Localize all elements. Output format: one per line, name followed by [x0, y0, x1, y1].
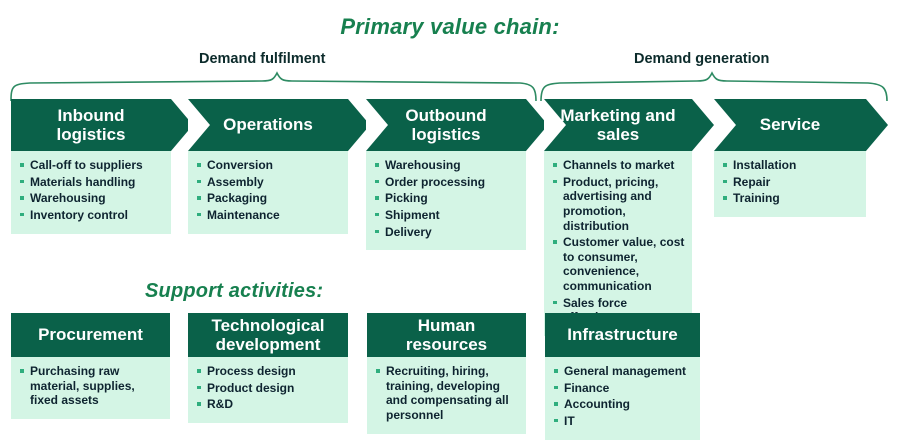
list-item: Accounting — [551, 397, 696, 412]
support-activity-header-procurement: Procurement — [11, 313, 170, 357]
support-activity-procurement[interactable]: Procurement Purchasing raw material, sup… — [11, 313, 170, 419]
chain-stage-outbound-logistics[interactable]: Outbound logistics Warehousing Order pro… — [366, 99, 526, 250]
list-item: Inventory control — [17, 208, 167, 223]
support-activity-body-infrastructure: General management Finance Accounting IT — [545, 357, 700, 440]
chain-stage-items: Call-off to suppliers Materials handling… — [17, 158, 167, 223]
chain-stage-header-service: Service — [714, 99, 866, 151]
support-activity-human-resources[interactable]: Human resources Recruiting, hiring, trai… — [367, 313, 526, 434]
chain-stage-body-outbound-logistics: Warehousing Order processing Picking Shi… — [366, 151, 526, 250]
brace-demand-generation — [541, 73, 887, 101]
support-activity-header-infrastructure: Infrastructure — [545, 313, 700, 357]
chevron-arrow-icon — [692, 99, 714, 151]
list-item: General management — [551, 364, 696, 379]
list-item: Warehousing — [372, 158, 522, 173]
chain-stage-title-line1: Operations — [223, 115, 313, 134]
list-item: Order processing — [372, 175, 522, 190]
support-activity-infrastructure[interactable]: Infrastructure General management Financ… — [545, 313, 700, 440]
list-item: Conversion — [194, 158, 344, 173]
support-activity-title-line1: Technological — [211, 316, 324, 335]
chain-stage-items: Warehousing Order processing Picking Shi… — [372, 158, 522, 239]
primary-chain-row: Inbound logistics Call-off to suppliers … — [0, 99, 900, 294]
list-item: Assembly — [194, 175, 344, 190]
list-item: Purchasing raw material, supplies, fixed… — [17, 364, 166, 408]
demand-fulfilment-label: Demand fulfilment — [199, 51, 325, 67]
page-title: Primary value chain: — [0, 14, 900, 40]
list-item: Materials handling — [17, 175, 167, 190]
support-activity-title-line1: Human — [418, 316, 476, 335]
demand-generation-label: Demand generation — [634, 51, 769, 67]
list-item: Channels to market — [550, 158, 688, 173]
chain-stage-title-line2: logistics — [412, 125, 481, 144]
list-item: Customer value, cost to consumer, conven… — [550, 235, 688, 294]
chain-stage-items: Channels to market Product, pricing, adv… — [550, 158, 688, 325]
support-activity-technological-development[interactable]: Technological development Process design… — [188, 313, 348, 423]
chain-stage-body-marketing-and-sales: Channels to market Product, pricing, adv… — [544, 151, 692, 336]
support-activity-body-procurement: Purchasing raw material, supplies, fixed… — [11, 357, 170, 419]
chain-stage-title-line2: sales — [597, 125, 640, 144]
value-chain-diagram: Primary value chain: Demand fulfilment D… — [0, 0, 900, 444]
brace-demand-fulfilment — [11, 73, 536, 101]
support-activity-items: Purchasing raw material, supplies, fixed… — [17, 364, 166, 408]
chain-stage-title-line1: Service — [760, 115, 821, 134]
chevron-notch-icon — [188, 99, 210, 151]
support-activities-row: Procurement Purchasing raw material, sup… — [0, 313, 900, 444]
chain-stage-title-line1: Inbound — [57, 106, 124, 125]
chain-stage-inbound-logistics[interactable]: Inbound logistics Call-off to suppliers … — [11, 99, 171, 234]
list-item: Picking — [372, 191, 522, 206]
chain-stage-header-inbound-logistics: Inbound logistics — [11, 99, 171, 151]
chain-stage-title-line2: logistics — [57, 125, 126, 144]
support-activity-title-line2: resources — [406, 335, 487, 354]
support-activity-title-line1: Infrastructure — [567, 325, 678, 344]
chain-stage-body-inbound-logistics: Call-off to suppliers Materials handling… — [11, 151, 171, 234]
list-item: Delivery — [372, 225, 522, 240]
list-item: Recruiting, hiring, training, developing… — [373, 364, 522, 423]
list-item: Product design — [194, 381, 344, 396]
list-item: Repair — [720, 175, 862, 190]
support-activity-title-line2: development — [216, 335, 321, 354]
chain-stage-body-service: Installation Repair Training — [714, 151, 866, 217]
list-item: Finance — [551, 381, 696, 396]
list-item: Training — [720, 191, 862, 206]
brace-group — [0, 68, 900, 102]
list-item: Call-off to suppliers — [17, 158, 167, 173]
list-item: IT — [551, 414, 696, 429]
chain-stage-service[interactable]: Service Installation Repair Training — [714, 99, 866, 217]
chevron-arrow-icon — [866, 99, 888, 151]
chain-stage-header-operations: Operations — [188, 99, 348, 151]
support-activity-items: Recruiting, hiring, training, developing… — [373, 364, 522, 423]
chain-stage-header-marketing-and-sales: Marketing and sales — [544, 99, 692, 151]
list-item: Warehousing — [17, 191, 167, 206]
support-activity-header-human-resources: Human resources — [367, 313, 526, 357]
chain-stage-title-line1: Outbound — [405, 106, 486, 125]
list-item: Packaging — [194, 191, 344, 206]
list-item: Installation — [720, 158, 862, 173]
chevron-notch-icon — [714, 99, 736, 151]
chain-stage-items: Conversion Assembly Packaging Maintenanc… — [194, 158, 344, 223]
chain-stage-header-outbound-logistics: Outbound logistics — [366, 99, 526, 151]
list-item: Process design — [194, 364, 344, 379]
chain-stage-marketing-and-sales[interactable]: Marketing and sales Channels to market P… — [544, 99, 692, 336]
chevron-notch-icon — [366, 99, 388, 151]
support-activity-items: Process design Product design R&D — [194, 364, 344, 412]
list-item: R&D — [194, 397, 344, 412]
support-activity-body-technological-development: Process design Product design R&D — [188, 357, 348, 423]
list-item: Product, pricing, advertising and promot… — [550, 175, 688, 234]
support-activity-header-technological-development: Technological development — [188, 313, 348, 357]
chain-stage-items: Installation Repair Training — [720, 158, 862, 206]
chevron-notch-icon — [544, 99, 566, 151]
support-activity-body-human-resources: Recruiting, hiring, training, developing… — [367, 357, 526, 434]
list-item: Maintenance — [194, 208, 344, 223]
support-activity-items: General management Finance Accounting IT — [551, 364, 696, 429]
support-activity-title-line1: Procurement — [38, 325, 143, 344]
chain-stage-title-line1: Marketing and — [560, 106, 675, 125]
chain-stage-body-operations: Conversion Assembly Packaging Maintenanc… — [188, 151, 348, 234]
support-activities-title: Support activities: — [145, 280, 323, 303]
list-item: Shipment — [372, 208, 522, 223]
chain-stage-operations[interactable]: Operations Conversion Assembly Packaging… — [188, 99, 348, 234]
